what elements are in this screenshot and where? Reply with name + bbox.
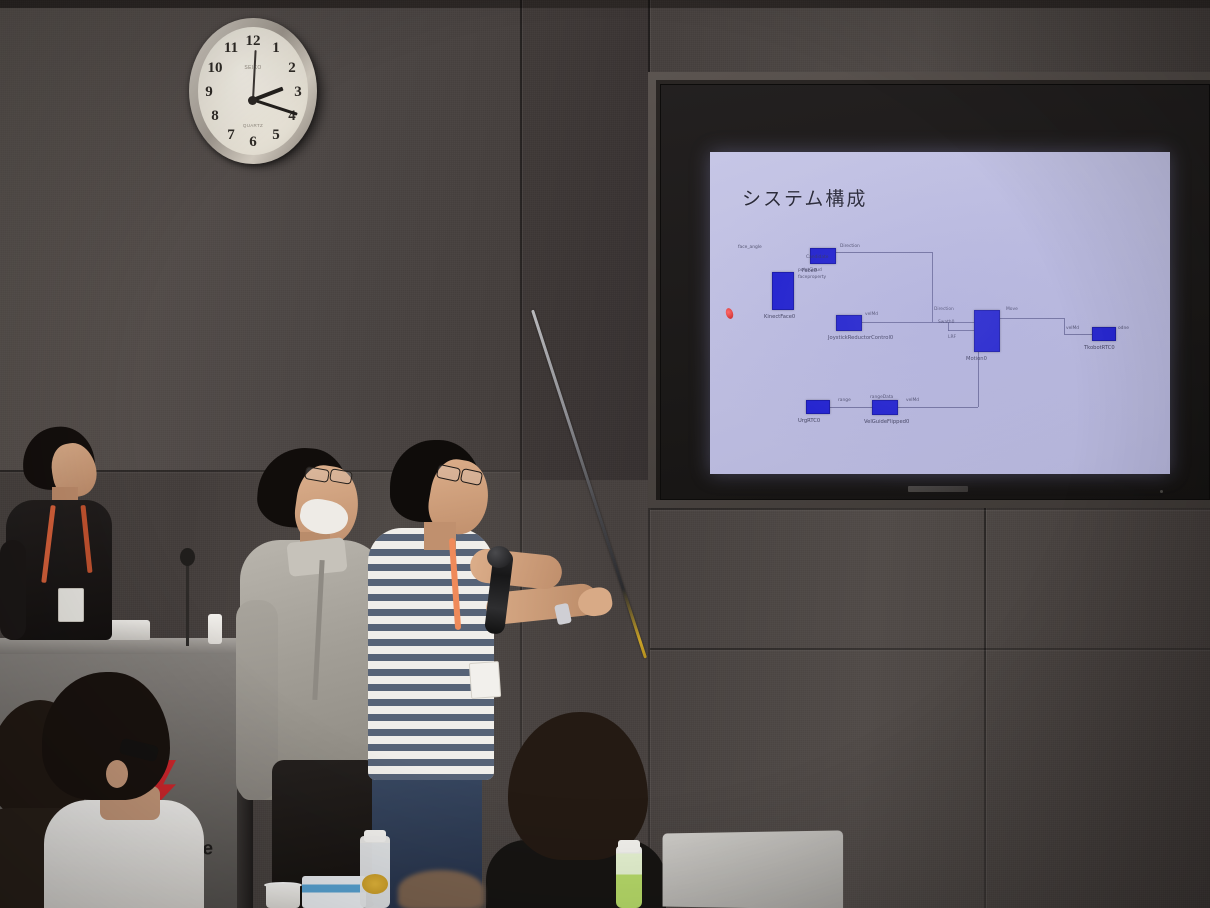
diagram-port-label: Swath0 — [938, 320, 954, 325]
shirt-stripe — [368, 609, 494, 616]
diagram-port-label: Direction — [840, 244, 860, 249]
microphone-stand — [186, 560, 189, 646]
diagram-block — [872, 400, 898, 415]
shirt-collar — [286, 537, 347, 577]
diagram-port-label: pointCloud — [798, 268, 822, 273]
clock-numeral: 3 — [290, 84, 306, 101]
diagram-block-label: Motion0 — [966, 356, 987, 362]
wall-seam-horizontal-2 — [650, 648, 1210, 650]
clock-numeral: 11 — [223, 40, 239, 57]
diagram-block — [974, 310, 1000, 352]
diagram-wire — [1064, 318, 1065, 334]
diagram-block — [772, 272, 794, 310]
clock-numeral: 1 — [268, 40, 284, 57]
shirt-stripe — [368, 699, 494, 706]
lectern-small-bottle — [208, 614, 222, 644]
clock-numeral: 6 — [245, 134, 261, 151]
clock-numeral: 8 — [207, 108, 223, 125]
hair — [42, 672, 170, 800]
clock-numeral: 10 — [207, 60, 223, 77]
slide-title: システム構成 — [742, 184, 867, 211]
diagram-port-label: odne — [1118, 326, 1129, 331]
clock-second-hand — [252, 50, 256, 100]
diagram-block-label: VelGuideFlipped0 — [864, 419, 909, 425]
display-brand-logo — [908, 486, 968, 492]
clock-rim: SEIKO QUARTZ 12 1 2 3 4 5 6 7 8 9 10 11 — [189, 18, 317, 164]
diagram-wire — [830, 407, 874, 408]
shirt-stripe — [368, 624, 494, 631]
shirt-stripe — [368, 714, 494, 721]
ear — [106, 760, 128, 788]
diagram-port-label: faceproperty — [798, 275, 826, 280]
name-badge — [469, 661, 501, 699]
shirt-stripe — [368, 654, 494, 661]
shirt-stripe — [368, 594, 494, 601]
clock-numeral: 12 — [245, 33, 261, 50]
diagram-wire — [1000, 318, 1064, 319]
diagram-port-label: velMd — [906, 398, 919, 403]
wall-clock: SEIKO QUARTZ 12 1 2 3 4 5 6 7 8 9 10 11 — [189, 18, 323, 168]
clock-face: SEIKO QUARTZ 12 1 2 3 4 5 6 7 8 9 10 11 — [198, 27, 308, 155]
shirt-stripe — [368, 639, 494, 646]
audience-laptop[interactable] — [663, 830, 844, 908]
shirt-stripe — [368, 744, 494, 751]
diagram-port-label: LRF — [948, 335, 956, 340]
diagram-block-label: TkobotRTC0 — [1084, 345, 1115, 351]
diagram-port-label: range — [838, 398, 851, 403]
name-badge — [58, 588, 84, 622]
water-bottle-label — [362, 874, 388, 894]
display-power-led — [1160, 490, 1163, 493]
shirt-stripe — [368, 579, 494, 586]
diagram-port-label: velMd — [1066, 326, 1079, 331]
shirt-stripe — [368, 774, 494, 780]
shirt-stripe — [368, 729, 494, 736]
arm — [0, 540, 26, 640]
diagram-wire — [1064, 334, 1094, 335]
diagram-block — [806, 400, 830, 414]
diagram-block-label: KinectFace0 — [764, 314, 795, 320]
wall-seam-horizontal-3 — [650, 508, 1210, 510]
diagram-block-label: JoystickReductorControl0 — [828, 335, 893, 341]
clock-numeral: 2 — [284, 60, 300, 77]
diagram-port-label: face_angle — [738, 245, 762, 250]
clock-numeral: 7 — [223, 127, 239, 144]
shirt-stripe — [368, 759, 494, 766]
diagram-block-label: UrgRTC0 — [798, 418, 820, 424]
bottle-cap — [618, 840, 640, 852]
clock-center-pin — [248, 96, 257, 105]
diagram-block — [836, 315, 862, 331]
presentation-slide: システム構成 KinectFace0Face0JoystickReductorC… — [710, 152, 1170, 474]
diagram-port-label: Move — [1006, 307, 1018, 312]
diagram-port-label: Direction — [934, 307, 954, 312]
diagram-port-label: Candidate — [806, 255, 828, 260]
diagram-wire — [836, 252, 932, 253]
tissue-box — [302, 876, 366, 908]
diagram-wire — [898, 407, 978, 408]
clock-numeral: 5 — [268, 127, 284, 144]
clock-numeral: 9 — [201, 84, 217, 101]
diagram-port-label: rangeData — [870, 395, 893, 400]
diagram-block — [1092, 327, 1116, 341]
wall-seam-vertical-3 — [984, 508, 986, 908]
microphone-stand-head-icon — [180, 548, 195, 566]
diagram-wire — [932, 252, 933, 322]
diagram-wire — [948, 330, 976, 331]
presentation-room-photo: SEIKO QUARTZ 12 1 2 3 4 5 6 7 8 9 10 11 — [0, 0, 1210, 908]
diagram-wire — [862, 322, 974, 323]
paper-cup — [266, 884, 300, 908]
diagram-port-label: velMd — [865, 312, 878, 317]
green-tea-bottle — [616, 846, 642, 908]
display-screen[interactable]: システム構成 KinectFace0Face0JoystickReductorC… — [710, 152, 1170, 474]
audience-head-blurred — [398, 870, 484, 908]
water-bottle — [360, 836, 390, 908]
microphone-head-icon — [487, 546, 511, 568]
